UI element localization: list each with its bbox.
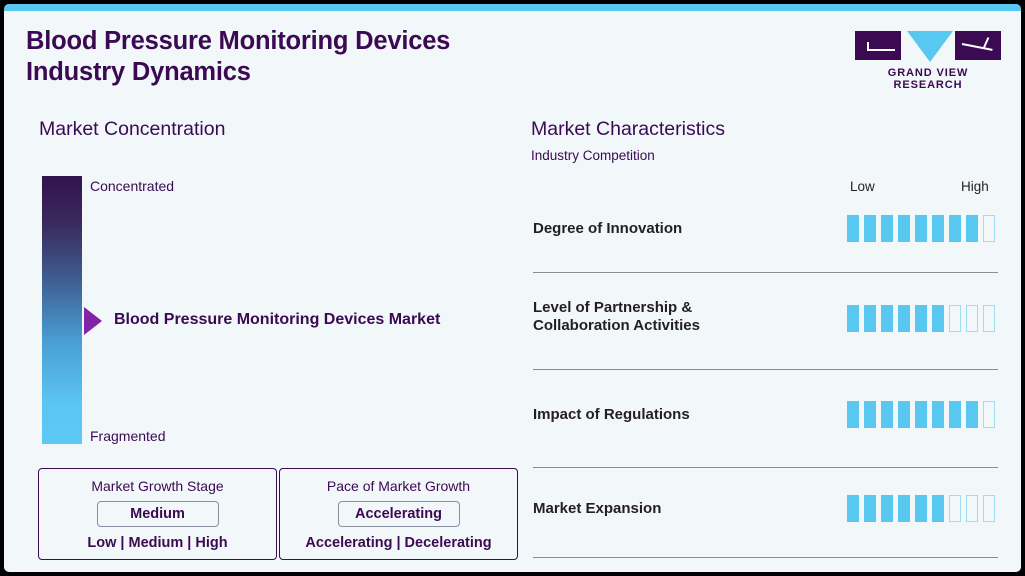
rating-pip-filled xyxy=(864,305,876,332)
row-divider xyxy=(533,467,998,468)
rating-pip-filled xyxy=(864,215,876,242)
row-divider xyxy=(533,369,998,370)
rating-pip-filled xyxy=(864,401,876,428)
market-position-marker-icon xyxy=(84,307,102,335)
rating-pip-filled xyxy=(932,401,944,428)
market-growth-stage-box: Market Growth Stage Medium Low | Medium … xyxy=(38,468,277,560)
market-growth-stage-value: Medium xyxy=(97,501,219,527)
rating-pip-filled xyxy=(915,401,927,428)
characteristic-label: Level of Partnership &Collaboration Acti… xyxy=(533,299,700,335)
rating-pip-filled xyxy=(898,305,910,332)
rating-pip-filled xyxy=(847,305,859,332)
axis-label-high: High xyxy=(961,179,989,194)
rating-pip-filled xyxy=(847,495,859,522)
rating-pip-filled xyxy=(915,305,927,332)
characteristic-rating xyxy=(847,215,995,242)
rating-pip-empty xyxy=(966,305,978,332)
market-characteristics-heading: Market Characteristics xyxy=(531,118,725,141)
rating-pip-empty xyxy=(966,495,978,522)
rating-pip-filled xyxy=(898,401,910,428)
market-concentration-heading: Market Concentration xyxy=(39,118,225,141)
row-divider xyxy=(533,557,998,558)
rating-pip-filled xyxy=(881,305,893,332)
characteristic-label: Market Expansion xyxy=(533,500,661,518)
characteristic-label: Degree of Innovation xyxy=(533,220,682,238)
rating-pip-filled xyxy=(949,215,961,242)
logo-triangle-icon xyxy=(907,31,953,62)
characteristic-rating xyxy=(847,495,995,522)
rating-pip-filled xyxy=(932,215,944,242)
scale-label-fragmented: Fragmented xyxy=(90,428,165,444)
logo-right-block-icon xyxy=(955,31,1001,60)
market-growth-stage-scale: Low | Medium | High xyxy=(39,535,276,551)
page-title-line-1: Blood Pressure Monitoring Devices xyxy=(26,26,646,57)
rating-pip-filled xyxy=(898,215,910,242)
rating-pip-filled xyxy=(881,215,893,242)
rating-pip-filled xyxy=(915,215,927,242)
logo-left-block-icon xyxy=(855,31,901,60)
rating-pip-filled xyxy=(932,495,944,522)
market-position-label: Blood Pressure Monitoring Devices Market xyxy=(114,311,440,329)
pace-of-market-growth-title: Pace of Market Growth xyxy=(280,478,517,494)
rating-pip-filled xyxy=(847,215,859,242)
rating-pip-empty xyxy=(983,495,995,522)
pace-of-market-growth-box: Pace of Market Growth Accelerating Accel… xyxy=(279,468,518,560)
rating-pip-filled xyxy=(881,401,893,428)
market-characteristics-subheading: Industry Competition xyxy=(531,148,655,163)
rating-pip-empty xyxy=(983,401,995,428)
rating-pip-filled xyxy=(881,495,893,522)
logo-marks xyxy=(855,31,1001,61)
rating-pip-filled xyxy=(847,401,859,428)
scale-label-concentrated: Concentrated xyxy=(90,178,174,194)
rating-pip-empty xyxy=(949,495,961,522)
pace-of-market-growth-value: Accelerating xyxy=(338,501,460,527)
rating-pip-filled xyxy=(864,495,876,522)
rating-pip-empty xyxy=(983,215,995,242)
rating-pip-filled xyxy=(932,305,944,332)
infographic-canvas: Blood Pressure Monitoring Devices Indust… xyxy=(4,4,1021,572)
characteristic-label: Impact of Regulations xyxy=(533,406,690,424)
page-title-line-2: Industry Dynamics xyxy=(26,57,646,88)
top-accent-bar xyxy=(4,4,1021,11)
row-divider xyxy=(533,272,998,273)
market-growth-stage-title: Market Growth Stage xyxy=(39,478,276,494)
concentration-gradient-bar xyxy=(42,176,82,444)
characteristic-rating xyxy=(847,305,995,332)
rating-pip-filled xyxy=(966,215,978,242)
rating-pip-filled xyxy=(915,495,927,522)
axis-label-low: Low xyxy=(850,179,875,194)
page-title: Blood Pressure Monitoring Devices Indust… xyxy=(26,26,646,88)
rating-pip-filled xyxy=(966,401,978,428)
pace-of-market-growth-scale: Accelerating | Decelerating xyxy=(280,535,517,551)
characteristic-rating xyxy=(847,401,995,428)
rating-pip-filled xyxy=(898,495,910,522)
logo-wordmark: GRAND VIEW RESEARCH xyxy=(855,67,1001,91)
grand-view-research-logo: GRAND VIEW RESEARCH xyxy=(855,31,1001,83)
rating-pip-empty xyxy=(949,305,961,332)
rating-pip-empty xyxy=(983,305,995,332)
rating-pip-filled xyxy=(949,401,961,428)
